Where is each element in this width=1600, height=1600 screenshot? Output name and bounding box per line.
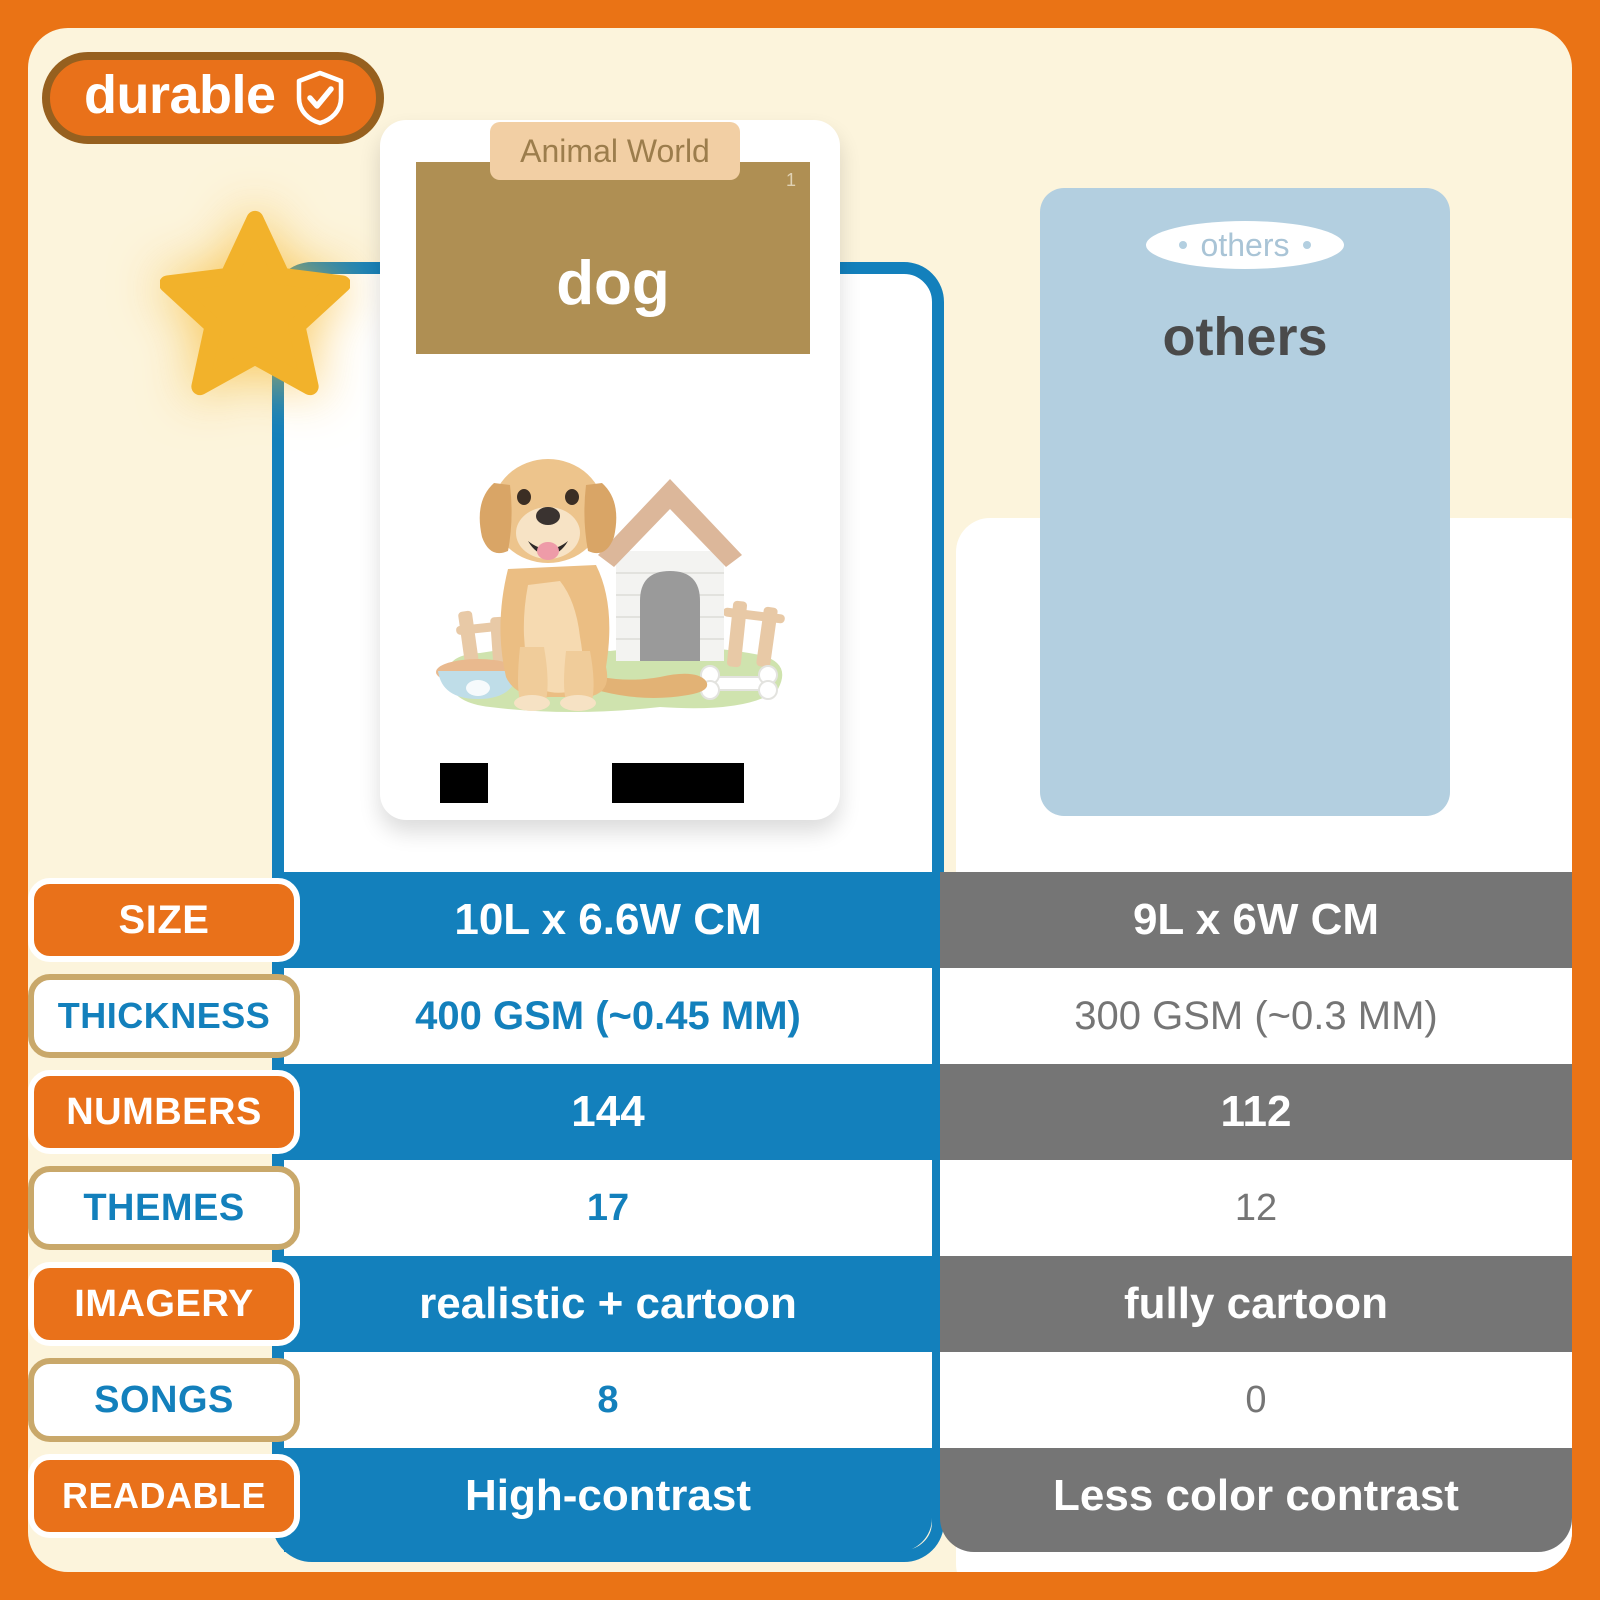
durable-badge-label: durable — [84, 68, 276, 128]
redaction-bar-right — [612, 763, 744, 803]
row-label-size: SIZE — [28, 878, 300, 962]
ours-cell-readable: High-contrast — [284, 1448, 932, 1552]
golden-retriever-illustration — [420, 405, 805, 735]
oval-dot-right — [1303, 241, 1311, 249]
theirs-value-numbers: 112 — [940, 1064, 1572, 1160]
row-label-imagery-text: IMAGERY — [74, 1283, 253, 1326]
theirs-value-themes: 12 — [940, 1160, 1572, 1256]
flashcard-word: dog — [416, 248, 810, 319]
table-row: 17 12 THEMES — [0, 1160, 1600, 1256]
theirs-cell-numbers: 112 — [940, 1064, 1572, 1160]
ours-cell-thickness: 400 GSM (~0.45 MM) — [284, 968, 932, 1064]
ours-value-numbers: 144 — [284, 1064, 932, 1160]
theirs-cell-readable: Less color contrast — [940, 1448, 1572, 1552]
ours-flashcard: 1 dog Animal World — [380, 120, 840, 820]
row-label-readable-text: READABLE — [62, 1475, 266, 1517]
infographic-canvas: durable 1 dog Animal World — [0, 0, 1600, 1600]
ours-value-themes: 17 — [284, 1160, 932, 1256]
flashcard-header: 1 dog — [416, 162, 810, 354]
oval-dot-left — [1179, 241, 1187, 249]
shield-check-icon — [294, 70, 346, 126]
star-icon — [160, 208, 350, 398]
ours-value-imagery: realistic + cartoon — [284, 1256, 932, 1352]
theirs-cell-imagery: fully cartoon — [940, 1256, 1572, 1352]
theirs-value-imagery: fully cartoon — [940, 1256, 1572, 1352]
table-row: 400 GSM (~0.45 MM) 300 GSM (~0.3 MM) THI… — [0, 968, 1600, 1064]
others-flashcard: others others — [1040, 188, 1450, 816]
row-label-numbers-text: NUMBERS — [66, 1091, 262, 1134]
row-label-songs-text: SONGS — [94, 1379, 234, 1422]
row-label-themes-text: THEMES — [83, 1187, 244, 1230]
row-label-themes: THEMES — [28, 1166, 300, 1250]
redaction-bar-left — [440, 763, 488, 803]
theirs-value-size: 9L x 6W CM — [940, 872, 1572, 968]
ours-cell-imagery: realistic + cartoon — [284, 1256, 932, 1352]
others-oval-badge: others — [1146, 221, 1344, 269]
ours-value-readable: High-contrast — [284, 1448, 932, 1544]
durable-badge: durable — [42, 52, 384, 144]
flashcard-theme-tab: Animal World — [490, 122, 740, 180]
theirs-value-songs: 0 — [940, 1352, 1572, 1448]
others-oval-label: others — [1201, 227, 1290, 264]
ours-cell-songs: 8 — [284, 1352, 932, 1448]
comparison-table: 10L x 6.6W CM 9L x 6W CM SIZE 400 GSM (~… — [0, 872, 1600, 1544]
ours-cell-themes: 17 — [284, 1160, 932, 1256]
theirs-value-thickness: 300 GSM (~0.3 MM) — [940, 968, 1572, 1064]
flashcard-number: 1 — [786, 170, 796, 191]
row-label-size-text: SIZE — [119, 898, 210, 943]
row-label-thickness-text: THICKNESS — [58, 995, 271, 1037]
table-row: 10L x 6.6W CM 9L x 6W CM SIZE — [0, 872, 1600, 968]
row-label-thickness: THICKNESS — [28, 974, 300, 1058]
ours-cell-numbers: 144 — [284, 1064, 932, 1160]
table-row: realistic + cartoon fully cartoon IMAGER… — [0, 1256, 1600, 1352]
theirs-cell-thickness: 300 GSM (~0.3 MM) — [940, 968, 1572, 1064]
theirs-cell-themes: 12 — [940, 1160, 1572, 1256]
table-row: 144 112 NUMBERS — [0, 1064, 1600, 1160]
theirs-value-readable: Less color contrast — [940, 1448, 1572, 1544]
theirs-cell-songs: 0 — [940, 1352, 1572, 1448]
ours-value-songs: 8 — [284, 1352, 932, 1448]
table-row: 8 0 SONGS — [0, 1352, 1600, 1448]
row-label-readable: READABLE — [28, 1454, 300, 1538]
theirs-cell-size: 9L x 6W CM — [940, 872, 1572, 968]
table-row: High-contrast Less color contrast READAB… — [0, 1448, 1600, 1544]
row-label-numbers: NUMBERS — [28, 1070, 300, 1154]
ours-cell-size: 10L x 6.6W CM — [284, 872, 932, 968]
others-flashcard-word: others — [1040, 306, 1450, 368]
ours-value-size: 10L x 6.6W CM — [284, 872, 932, 968]
row-label-imagery: IMAGERY — [28, 1262, 300, 1346]
ours-value-thickness: 400 GSM (~0.45 MM) — [284, 968, 932, 1064]
row-label-songs: SONGS — [28, 1358, 300, 1442]
